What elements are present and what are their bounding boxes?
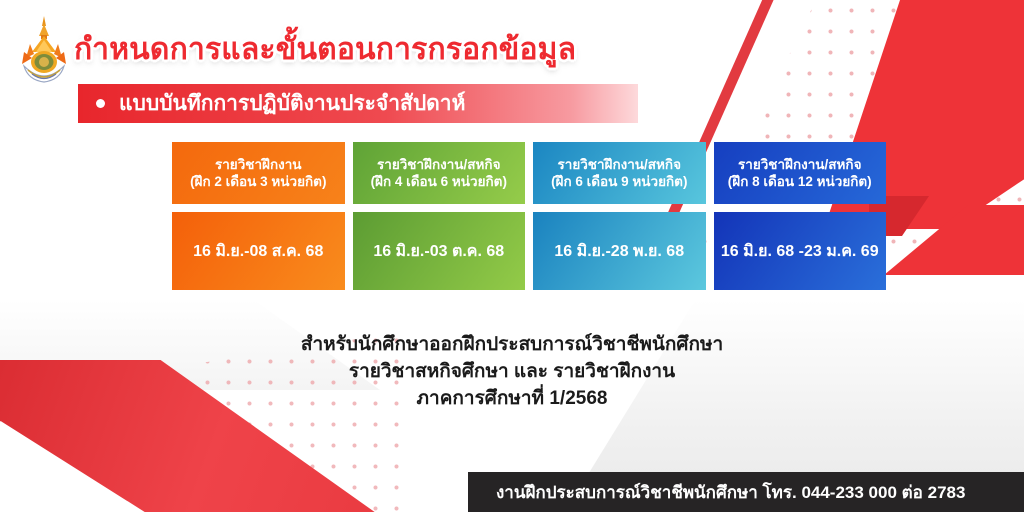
column-header-line1: รายวิชาฝึกงาน/สหกิจ [377,156,501,173]
schedule-column-internship-2-months: รายวิชาฝึกงาน (ฝึก 2 เดือน 3 หน่วยกิต) 1… [172,142,345,290]
caption-line-3: ภาคการศึกษาที่ 1/2568 [0,386,1024,413]
column-header-line2: (ฝึก 4 เดือน 6 หน่วยกิต) [371,173,507,190]
column-header-line1: รายวิชาฝึกงาน/สหกิจ [738,156,862,173]
date-range-cell: 16 มิ.ย.-03 ต.ค. 68 [353,212,526,290]
footer-contact-text: งานฝึกประสบการณ์วิชาชีพนักศึกษา โทร. 044… [496,479,965,506]
column-header: รายวิชาฝึกงาน (ฝึก 2 เดือน 3 หน่วยกิต) [172,142,345,204]
schedule-table: รายวิชาฝึกงาน (ฝึก 2 เดือน 3 หน่วยกิต) 1… [172,142,886,290]
column-header: รายวิชาฝึกงาน/สหกิจ (ฝึก 4 เดือน 6 หน่วย… [353,142,526,204]
caption-line-1: สำหรับนักศึกษาออกฝึกประสบการณ์วิชาชีพนัก… [0,332,1024,359]
column-header-line2: (ฝึก 6 เดือน 9 หน่วยกิต) [551,173,687,190]
column-header-line2: (ฝึก 8 เดือน 12 หน่วยกิต) [728,173,872,190]
column-header: รายวิชาฝึกงาน/สหกิจ (ฝึก 8 เดือน 12 หน่ว… [714,142,887,204]
bullet-icon [96,99,105,108]
date-range-cell: 16 มิ.ย.-08 ส.ค. 68 [172,212,345,290]
caption-line-2: รายวิชาสหกิจศึกษา และ รายวิชาฝึกงาน [0,359,1024,386]
schedule-column-coop-4-months: รายวิชาฝึกงาน/สหกิจ (ฝึก 4 เดือน 6 หน่วย… [353,142,526,290]
column-header: รายวิชาฝึกงาน/สหกิจ (ฝึก 6 เดือน 9 หน่วย… [533,142,706,204]
poster-canvas: กำหนดการและขั้นตอนการกรอกข้อมูล แบบบันทึ… [0,0,1024,512]
subtitle-banner-label: แบบบันทึกการปฏิบัติงานประจำสัปดาห์ [119,93,465,114]
red-wedge-right-middle [884,205,1024,275]
column-header-line1: รายวิชาฝึกงาน [215,156,302,173]
schedule-column-coop-6-months: รายวิชาฝึกงาน/สหกิจ (ฝึก 6 เดือน 9 หน่วย… [533,142,706,290]
date-range-cell: 16 มิ.ย. 68 -23 ม.ค. 69 [714,212,887,290]
column-header-line2: (ฝึก 2 เดือน 3 หน่วยกิต) [190,173,326,190]
footer-contact-bar: งานฝึกประสบการณ์วิชาชีพนักศึกษา โทร. 044… [468,472,1024,512]
date-range-cell: 16 มิ.ย.-28 พ.ย. 68 [533,212,706,290]
subtitle-banner: แบบบันทึกการปฏิบัติงานประจำสัปดาห์ [78,84,638,123]
schedule-column-coop-8-months: รายวิชาฝึกงาน/สหกิจ (ฝึก 8 เดือน 12 หน่ว… [714,142,887,290]
page-title: กำหนดการและขั้นตอนการกรอกข้อมูล [74,26,576,73]
caption-block: สำหรับนักศึกษาออกฝึกประสบการณ์วิชาชีพนัก… [0,332,1024,413]
column-header-line1: รายวิชาฝึกงาน/สหกิจ [557,156,681,173]
university-emblem-icon [16,14,72,88]
